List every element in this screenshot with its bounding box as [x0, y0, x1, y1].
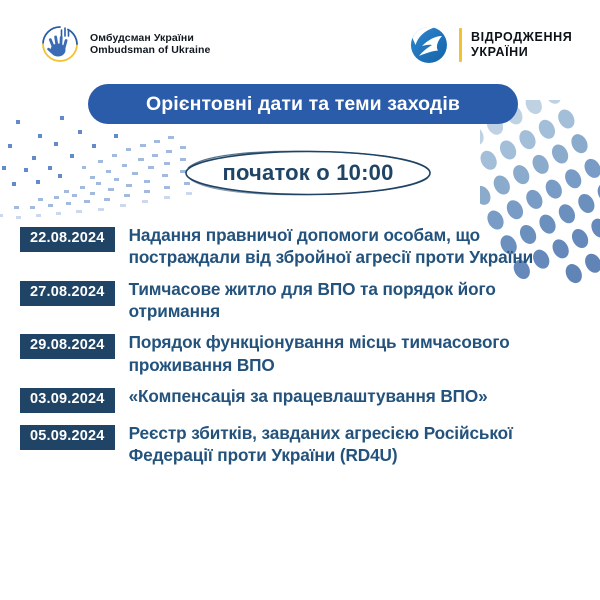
poster-root: Омбудсман України Ombudsman of Ukraine — [0, 0, 600, 600]
schedule-topic: Порядок функціонування місць тимчасового… — [129, 331, 539, 376]
logo-divider — [459, 28, 462, 62]
schedule-topic: Тимчасове житло для ВПО та порядок його … — [129, 278, 539, 323]
ombudsman-logo: Омбудсман України Ombudsman of Ukraine — [38, 22, 210, 66]
schedule-entry: 27.08.2024 Тимчасове житло для ВПО та по… — [0, 278, 600, 323]
ombudsman-logo-line-en: Ombudsman of Ukraine — [90, 44, 210, 56]
bird-in-circle-icon — [408, 24, 450, 66]
schedule-entry: 03.09.2024 «Компенсація за працевлаштува… — [0, 385, 600, 413]
hand-in-circle-trident-icon — [38, 22, 82, 66]
schedule-entry: 22.08.2024 Надання правничої допомоги ос… — [0, 224, 600, 269]
ombudsman-logo-wordmark: Омбудсман України Ombudsman of Ukraine — [90, 32, 210, 57]
schedule-topic: Реєстр збитків, завданих агресією Російс… — [129, 422, 539, 467]
schedule-topic: Надання правничої допомоги особам, що по… — [129, 224, 539, 269]
date-badge: 22.08.2024 — [20, 227, 115, 252]
date-badge: 27.08.2024 — [20, 281, 115, 306]
start-time-text: початок о 10:00 — [182, 148, 434, 198]
schedule-entry: 29.08.2024 Порядок функціонування місць … — [0, 331, 600, 376]
title-banner-text: Орієнтовні дати та теми заходів — [146, 93, 460, 116]
schedule-list: 22.08.2024 Надання правничої допомоги ос… — [0, 224, 600, 476]
header: Омбудсман України Ombudsman of Ukraine — [0, 0, 600, 82]
start-time-callout: початок о 10:00 — [182, 148, 434, 198]
date-badge: 05.09.2024 — [20, 425, 115, 450]
date-badge: 29.08.2024 — [20, 334, 115, 359]
ombudsman-logo-line-uk: Омбудсман України — [90, 32, 210, 44]
partner-logo-line-2: УКРАЇНИ — [471, 45, 572, 60]
partner-logo: ВІДРОДЖЕННЯ УКРАЇНИ — [408, 24, 572, 66]
date-badge: 03.09.2024 — [20, 388, 115, 413]
partner-logo-line-1: ВІДРОДЖЕННЯ — [471, 30, 572, 45]
decorative-dot-pattern-left — [0, 108, 204, 228]
partner-logo-wordmark: ВІДРОДЖЕННЯ УКРАЇНИ — [471, 30, 572, 60]
title-banner: Орієнтовні дати та теми заходів — [88, 84, 518, 124]
schedule-topic: «Компенсація за працевлаштування ВПО» — [129, 385, 488, 407]
schedule-entry: 05.09.2024 Реєстр збитків, завданих агре… — [0, 422, 600, 467]
